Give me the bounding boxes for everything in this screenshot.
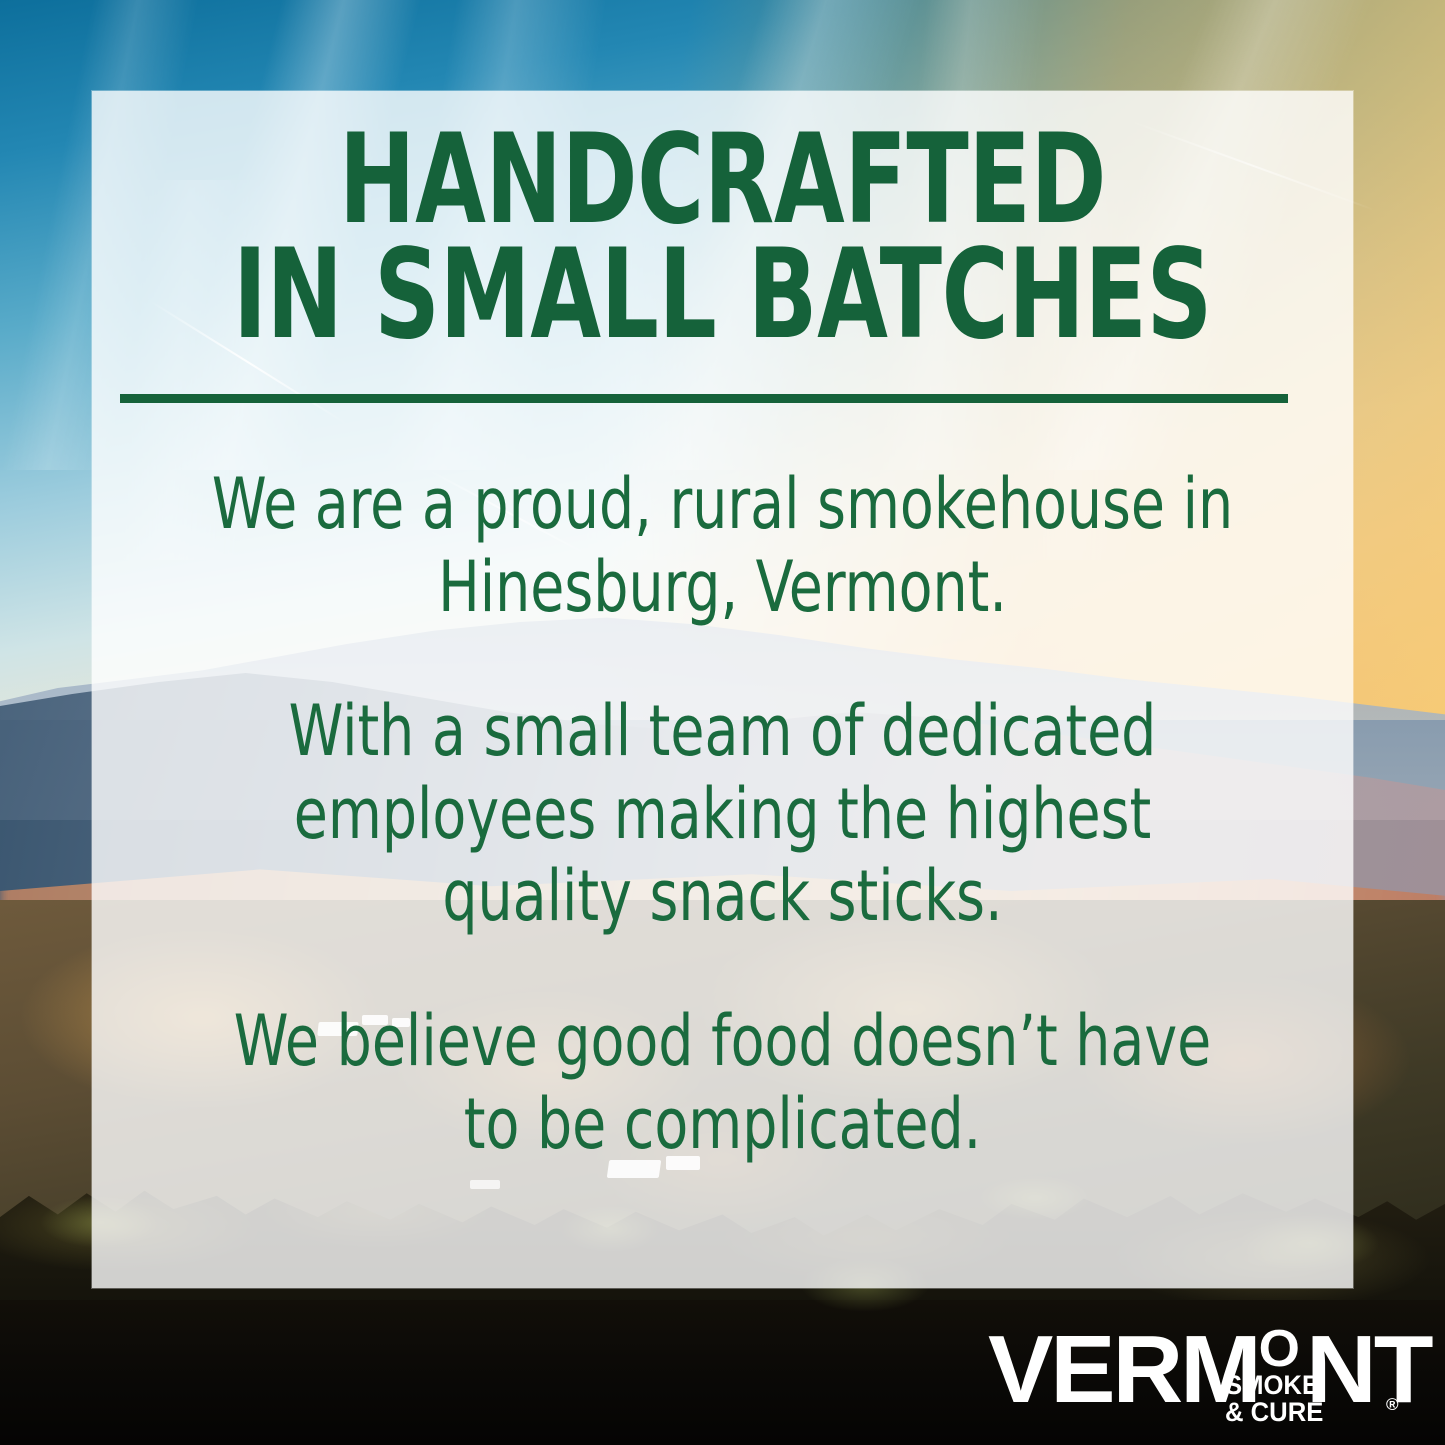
logo-wordmark: VERMONT	[988, 1322, 1430, 1418]
logo-word-part-1: VERM	[988, 1322, 1259, 1418]
page-title: HANDCRAFTED IN SMALL BATCHES	[205, 123, 1239, 354]
logo-letter-o: O	[1259, 1323, 1300, 1375]
body-paragraph-3: We believe good food doesn’t have to be …	[203, 1000, 1242, 1165]
registered-trademark-icon: ®	[1386, 1396, 1399, 1413]
logo-tagline: SMOKE & CURE	[1225, 1372, 1323, 1426]
body-copy: We are a proud, rural smokehouse in Hine…	[203, 463, 1242, 1165]
logo-tagline-line-1: SMOKE	[1225, 1372, 1323, 1399]
headline-line-2: IN SMALL BATCHES	[205, 238, 1239, 353]
logo-word-part-2: NT	[1306, 1322, 1430, 1418]
poster-canvas: HANDCRAFTED IN SMALL BATCHES We are a pr…	[0, 0, 1445, 1445]
logo-tagline-line-2: & CURE	[1225, 1399, 1323, 1426]
body-paragraph-1: We are a proud, rural smokehouse in Hine…	[203, 463, 1242, 628]
title-divider-rule	[120, 394, 1288, 403]
content-layer: HANDCRAFTED IN SMALL BATCHES We are a pr…	[92, 91, 1353, 1288]
body-paragraph-2: With a small team of dedicated employees…	[203, 690, 1242, 938]
brand-logo[interactable]: VERMONT SMOKE & CURE ®	[988, 1322, 1400, 1426]
